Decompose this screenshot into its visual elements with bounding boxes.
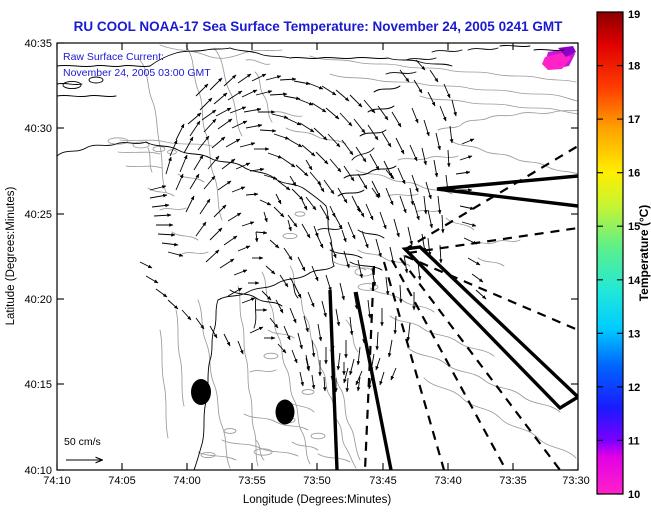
y-tick-labels: 40:10 40:15 40:20 40:25 40:30 40:35 xyxy=(24,38,52,477)
annotation-line-2: November 24, 2005 03:00 GMT xyxy=(63,67,211,79)
colorbar-tick-label: 19 xyxy=(628,9,640,21)
x-tick-label: 73:35 xyxy=(499,475,527,487)
y-tick-label: 40:30 xyxy=(24,123,52,135)
page-title: RU COOL NOAA-17 Sea Surface Temperature:… xyxy=(74,19,563,34)
colorbar-tick-label: 18 xyxy=(628,61,640,73)
x-tick-label: 73:55 xyxy=(238,475,266,487)
y-tick-label: 40:35 xyxy=(24,38,52,50)
colorbar-tick-label: 17 xyxy=(628,114,640,126)
station-marker-west xyxy=(191,379,211,405)
colorbar-tick-label: 16 xyxy=(628,168,640,180)
x-tick-label: 73:45 xyxy=(369,475,397,487)
x-tick-label: 74:00 xyxy=(173,475,201,487)
colorbar-tick-label: 13 xyxy=(628,328,640,340)
figure-canvas: RU COOL NOAA-17 Sea Surface Temperature:… xyxy=(0,0,651,519)
colorbar-tick-label: 10 xyxy=(628,489,640,501)
colorbar-tick-label: 12 xyxy=(628,382,640,394)
x-tick-label: 73:30 xyxy=(562,475,590,487)
y-tick-label: 40:15 xyxy=(24,379,52,391)
colorbar: 10 11 12 13 14 15 16 17 18 19 Temperatur… xyxy=(597,9,651,501)
y-axis-label: Latitude (Degrees:Minutes) xyxy=(5,186,17,325)
y-tick-label: 40:20 xyxy=(24,294,52,306)
annotation-line-1: Raw Surface Current: xyxy=(63,51,164,63)
x-tick-label: 74:05 xyxy=(108,475,136,487)
x-tick-label: 73:40 xyxy=(434,475,462,487)
scale-legend-label: 50 cm/s xyxy=(64,436,101,448)
x-tick-label: 73:50 xyxy=(303,475,331,487)
colorbar-gradient xyxy=(597,12,623,494)
station-marker-east xyxy=(276,400,295,425)
colorbar-tick-label: 11 xyxy=(628,435,640,447)
y-tick-label: 40:10 xyxy=(24,465,52,477)
x-axis-label: Longitude (Degrees:Minutes) xyxy=(243,494,391,506)
x-tick-labels: 74:10 74:05 74:00 73:55 73:50 73:45 73:4… xyxy=(43,475,590,487)
y-tick-label: 40:25 xyxy=(24,209,52,221)
sst-current-map: RU COOL NOAA-17 Sea Surface Temperature:… xyxy=(0,0,651,519)
colorbar-axis-label: Temperature (°C) xyxy=(637,205,651,302)
